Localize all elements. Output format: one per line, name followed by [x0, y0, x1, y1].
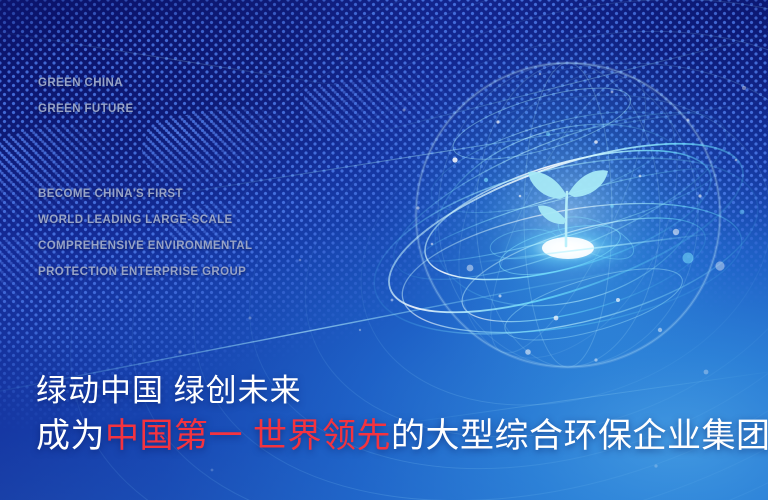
headline-highlight: 中国第一 世界领先 — [105, 417, 391, 455]
eyebrow-line: GREEN FUTURE — [38, 96, 134, 122]
headline-line-2: 成为中国第一 世界领先的大型综合环保企业集团 — [36, 408, 768, 457]
core-burst-glow — [498, 222, 638, 274]
eyebrow-line: PROTECTION ENTERPRISE GROUP — [38, 259, 252, 285]
headline-line-1: 绿动中国 绿创未来 — [36, 365, 302, 410]
headline-prefix: 成为 — [36, 417, 105, 455]
sprout-icon — [528, 170, 608, 246]
eyebrow-line: COMPREHENSIVE ENVIRONMENTAL — [38, 233, 252, 259]
eyebrow-line: BECOME CHINA'S FIRST — [38, 181, 252, 207]
globe-glow — [376, 23, 760, 407]
headline-suffix: 的大型综合环保企业集团 — [391, 417, 768, 455]
eyebrow-slogan-top: GREEN CHINA GREEN FUTURE — [38, 70, 134, 122]
eyebrow-slogan-mid: BECOME CHINA'S FIRST WORLD LEADING LARGE… — [38, 181, 252, 285]
eyebrow-line: WORLD LEADING LARGE-SCALE — [38, 207, 252, 233]
hero-banner: GREEN CHINA GREEN FUTURE BECOME CHINA'S … — [0, 0, 768, 500]
particle-dots-cyan — [484, 132, 745, 264]
eyebrow-line: GREEN CHINA — [38, 70, 134, 96]
orbital-rings — [357, 79, 768, 366]
globe-wireframe — [357, 36, 768, 393]
